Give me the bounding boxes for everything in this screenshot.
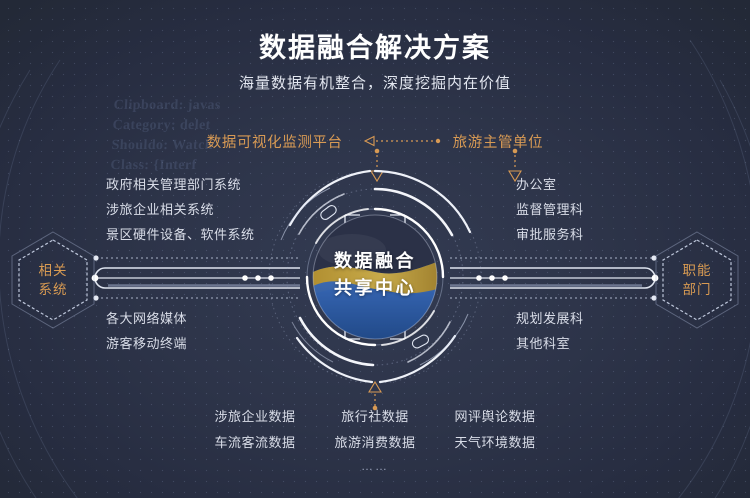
top-label-row: 数据可视化监测平台 旅游主管单位 — [0, 130, 750, 152]
center-line-1: 数据融合 — [300, 248, 450, 275]
list-item: 各大网络媒体 — [106, 306, 187, 331]
list-item: 监督管理科 — [516, 197, 584, 222]
left-connector-pipe — [92, 255, 300, 300]
list-item: 规划发展科 — [516, 306, 584, 331]
data-type-cell: 天气环境数据 — [446, 430, 544, 456]
data-type-cell: 车流客流数据 — [206, 430, 304, 456]
right-hexagon[interactable]: 职能 部门 — [654, 232, 740, 328]
bottom-ellipsis: …… — [361, 459, 389, 473]
list-item: 游客移动终端 — [106, 331, 187, 356]
list-item: 办公室 — [516, 172, 584, 197]
watermark-line: Clipboard: javas — [113, 96, 344, 116]
bottom-data-row: 涉旅企业数据 旅行社数据 网评舆论数据 — [206, 404, 544, 430]
visualization-platform-label: 数据可视化监测平台 — [207, 131, 343, 152]
down-pointer-left-icon — [366, 148, 388, 184]
data-type-cell: 网评舆论数据 — [446, 404, 544, 430]
ring-marker-upper-left — [319, 204, 338, 221]
ring-marker-lower-right — [411, 334, 430, 350]
right-departments-top-list: 办公室 监督管理科 审批服务科 — [516, 172, 584, 247]
infographic-canvas: Clipboard: javas Category: delet Shouldo… — [0, 0, 750, 498]
right-hexagon-label: 职能 部门 — [654, 232, 740, 328]
left-hexagon-line1: 相关 — [39, 261, 68, 280]
right-connector-pipe — [450, 255, 658, 300]
left-hexagon-line2: 系统 — [39, 280, 68, 299]
list-item: 政府相关管理部门系统 — [106, 172, 255, 197]
right-departments-bottom-list: 规划发展科 其他科室 — [516, 306, 584, 356]
data-type-cell: 涉旅企业数据 — [206, 404, 304, 430]
center-line-2: 共享中心 — [300, 275, 450, 302]
right-hexagon-line1: 职能 — [683, 261, 712, 280]
bottom-data-grid: 涉旅企业数据 旅行社数据 网评舆论数据 车流客流数据 旅游消费数据 天气环境数据… — [0, 404, 750, 473]
page-title: 数据融合解决方案 — [0, 26, 750, 65]
left-hexagon[interactable]: 相关 系统 — [10, 232, 96, 328]
left-sources-top-list: 政府相关管理部门系统 涉旅企业相关系统 景区硬件设备、软件系统 — [106, 172, 255, 247]
tourism-authority-label: 旅游主管单位 — [453, 131, 544, 152]
data-type-cell: 旅行社数据 — [326, 404, 424, 430]
center-ring-system — [269, 171, 481, 383]
right-hexagon-line2: 部门 — [683, 280, 712, 299]
list-item: 审批服务科 — [516, 222, 584, 247]
dotted-left-arrow-icon — [352, 135, 444, 147]
list-item: 景区硬件设备、软件系统 — [106, 222, 255, 247]
data-type-cell: 旅游消费数据 — [326, 430, 424, 456]
left-hexagon-label: 相关 系统 — [10, 232, 96, 328]
bottom-data-row: 车流客流数据 旅游消费数据 天气环境数据 — [206, 430, 544, 456]
left-sources-bottom-list: 各大网络媒体 游客移动终端 — [106, 306, 187, 356]
list-item: 其他科室 — [516, 331, 584, 356]
data-fusion-sphere — [313, 215, 437, 345]
page-subtitle: 海量数据有机整合，深度挖掘内在价值 — [0, 72, 750, 93]
list-item: 涉旅企业相关系统 — [106, 197, 255, 222]
center-sphere-label: 数据融合 共享中心 — [300, 248, 450, 302]
